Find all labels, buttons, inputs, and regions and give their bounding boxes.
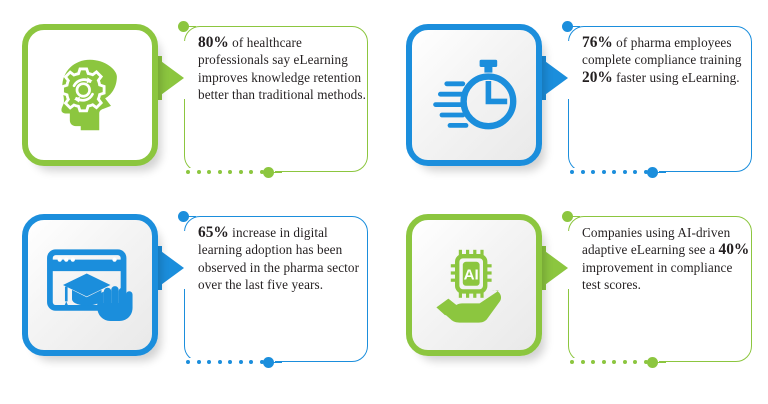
stat-value: 76% (582, 34, 613, 51)
pointer-arrow-icon (154, 246, 184, 290)
connector-dotted-line (570, 360, 648, 364)
stat-card-digital-adoption: 65% increase in digital learning adoptio… (8, 202, 378, 382)
icon-tile (22, 214, 158, 356)
stat-text: 76% of pharma employees complete complia… (582, 34, 750, 86)
connector-dot-top (178, 211, 189, 222)
browser-graduation-hand-icon (45, 243, 135, 327)
stat-text: Companies using AI-driven adaptive eLear… (582, 224, 750, 294)
connector-lead-top (572, 26, 580, 28)
connector-dot-top (562, 211, 573, 222)
stat-body-1: Companies using AI-driven adaptive eLear… (582, 225, 730, 257)
stat-card-compliance-speed: 76% of pharma employees complete complia… (392, 12, 762, 192)
pointer-arrow-icon (538, 246, 568, 290)
stat-card-ai-adaptive: AI Companies using AI-driven adaptive eL… (392, 202, 762, 382)
connector-dot-bottom (647, 357, 658, 368)
connector-dot-bottom (263, 357, 274, 368)
connector-dotted-line (186, 360, 264, 364)
connector-dot-top (562, 21, 573, 32)
brain-gear-icon (48, 53, 132, 137)
stat-value: 40% (719, 241, 750, 258)
ai-chip-hand-icon: AI (430, 243, 518, 327)
stat-body-2: faster using eLearning. (613, 70, 740, 85)
pointer-arrow-icon (154, 56, 184, 100)
icon-tile (406, 24, 542, 166)
connector-dot-bottom (647, 167, 658, 178)
stat-text: 80% of healthcare professionals say eLea… (198, 34, 366, 104)
stat-card-healthcare-retention: 80% of healthcare professionals say eLea… (8, 12, 378, 192)
connector-dotted-line (186, 170, 264, 174)
infographic-board: 80% of healthcare professionals say eLea… (0, 0, 768, 404)
connector-dotted-line (570, 170, 648, 174)
icon-tile: AI (406, 214, 542, 356)
stat-value-secondary: 20% (582, 69, 613, 86)
pointer-arrow-icon (538, 56, 568, 100)
stat-value: 80% (198, 34, 229, 51)
connector-lead-top (188, 216, 196, 218)
stat-value: 65% (198, 224, 229, 241)
stat-text: 65% increase in digital learning adoptio… (198, 224, 366, 294)
svg-text:AI: AI (464, 266, 479, 283)
stat-body-2: improvement in compliance test scores. (582, 260, 732, 292)
stopwatch-speed-icon (430, 53, 518, 137)
connector-dot-bottom (263, 167, 274, 178)
connector-dot-top (178, 21, 189, 32)
connector-lead-top (188, 26, 196, 28)
icon-tile (22, 24, 158, 166)
connector-lead-top (572, 216, 580, 218)
